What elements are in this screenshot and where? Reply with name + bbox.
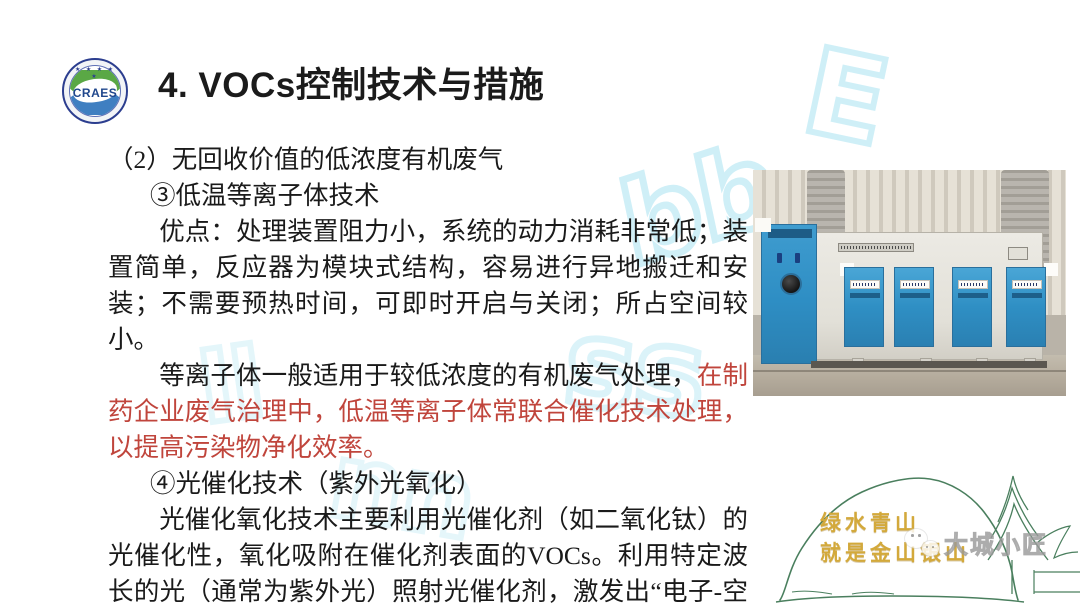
p-advantages: 优点：处理装置阻力小，系统的动力消耗非常低；装置简单，反应器为模块式结构，容易进…	[108, 214, 748, 358]
photo-access-door-4	[1006, 267, 1046, 347]
page-title: 4. VOCs控制技术与措施	[158, 64, 544, 108]
photo-panel-label	[768, 229, 812, 238]
logo-acronym: CRAES	[64, 86, 126, 100]
p-plasma-application: 等离子体一般适用于较低浓度的有机废气处理，在制药企业废气治理中，低温等离子体常联…	[108, 358, 748, 466]
photo-door-plate	[958, 280, 988, 289]
wechat-bubble-small	[922, 541, 939, 556]
p-section-2: （2）无回收价值的低浓度有机废气	[108, 142, 748, 178]
photo-cabinet-body	[815, 232, 1043, 360]
p-advantages-run-1: 优点：处理装置阻力小，系统的动力消耗非常低；装置简单，反应器为模块式结构，容易进…	[108, 217, 748, 354]
photo-access-door-2	[894, 267, 934, 347]
craes-logo: ★ ★ ★ ★ ★ ★ ★ CRAES	[62, 58, 128, 124]
p-item-4-run-1: ④光催化技术（紫外光氧化）	[150, 469, 482, 498]
logo-star-dots: ★ ★ ★ ★ ★ ★ ★	[64, 66, 126, 80]
slide-canvas: E bb ss ll nn ★ ★ ★ ★ ★ ★ ★ CRAES 4. VOC…	[0, 0, 1080, 607]
wechat-account-name: 大城小匠	[944, 525, 1048, 560]
p-item-4: ④光催化技术（紫外光氧化）	[108, 466, 748, 502]
wechat-eye	[918, 534, 921, 537]
photo-label-tab-2	[1044, 263, 1058, 276]
p-photocatalysis: 光催化氧化技术主要利用光催化剂（如二氧化钛）的光催化性，氧化吸附在催化剂表面的V…	[108, 502, 748, 607]
photo-door-bar	[850, 293, 880, 298]
p-item-3-run-1: ③低温等离子体技术	[150, 181, 380, 210]
p-plasma-application-run-1: 等离子体一般适用于较低浓度的有机废气处理，	[108, 361, 697, 390]
equipment-photo	[753, 170, 1066, 396]
photo-door-plate	[1012, 280, 1042, 289]
photo-switch-1	[777, 253, 782, 263]
photo-base-rail	[811, 361, 1047, 368]
wechat-icon	[905, 529, 939, 556]
photo-switch-2	[795, 253, 800, 263]
wechat-eye	[926, 546, 929, 549]
photo-white-tag	[755, 218, 771, 232]
photo-door-bar	[1012, 293, 1042, 298]
photo-access-door-1	[844, 267, 884, 347]
photo-door-plate	[900, 280, 930, 289]
photo-access-door-3	[952, 267, 992, 347]
photo-door-bar	[958, 293, 988, 298]
p-photocatalysis-run-1: 光催化氧化技术主要利用光催化剂（如二氧化钛）的光催化性，氧化吸附在催化剂表面的V…	[108, 505, 748, 607]
photo-door-plate	[850, 280, 880, 289]
wechat-eye	[932, 546, 935, 549]
photo-control-panel	[761, 224, 817, 364]
photo-door-bar	[900, 293, 930, 298]
p-section-2-run-1: （2）无回收价值的低浓度有机废气	[108, 145, 503, 174]
photo-small-panel	[1008, 247, 1028, 260]
slide-header: ★ ★ ★ ★ ★ ★ ★ CRAES 4. VOCs控制技术与措施	[0, 0, 1080, 138]
p-item-3: ③低温等离子体技术	[108, 178, 748, 214]
wechat-watermark: 大城小匠	[905, 525, 1048, 560]
photo-knob	[780, 273, 802, 295]
photo-vent-slot	[838, 243, 914, 252]
slide-body-text: （2）无回收价值的低浓度有机废气③低温等离子体技术 优点：处理装置阻力小，系统的…	[108, 142, 748, 607]
wechat-eye	[911, 534, 914, 537]
